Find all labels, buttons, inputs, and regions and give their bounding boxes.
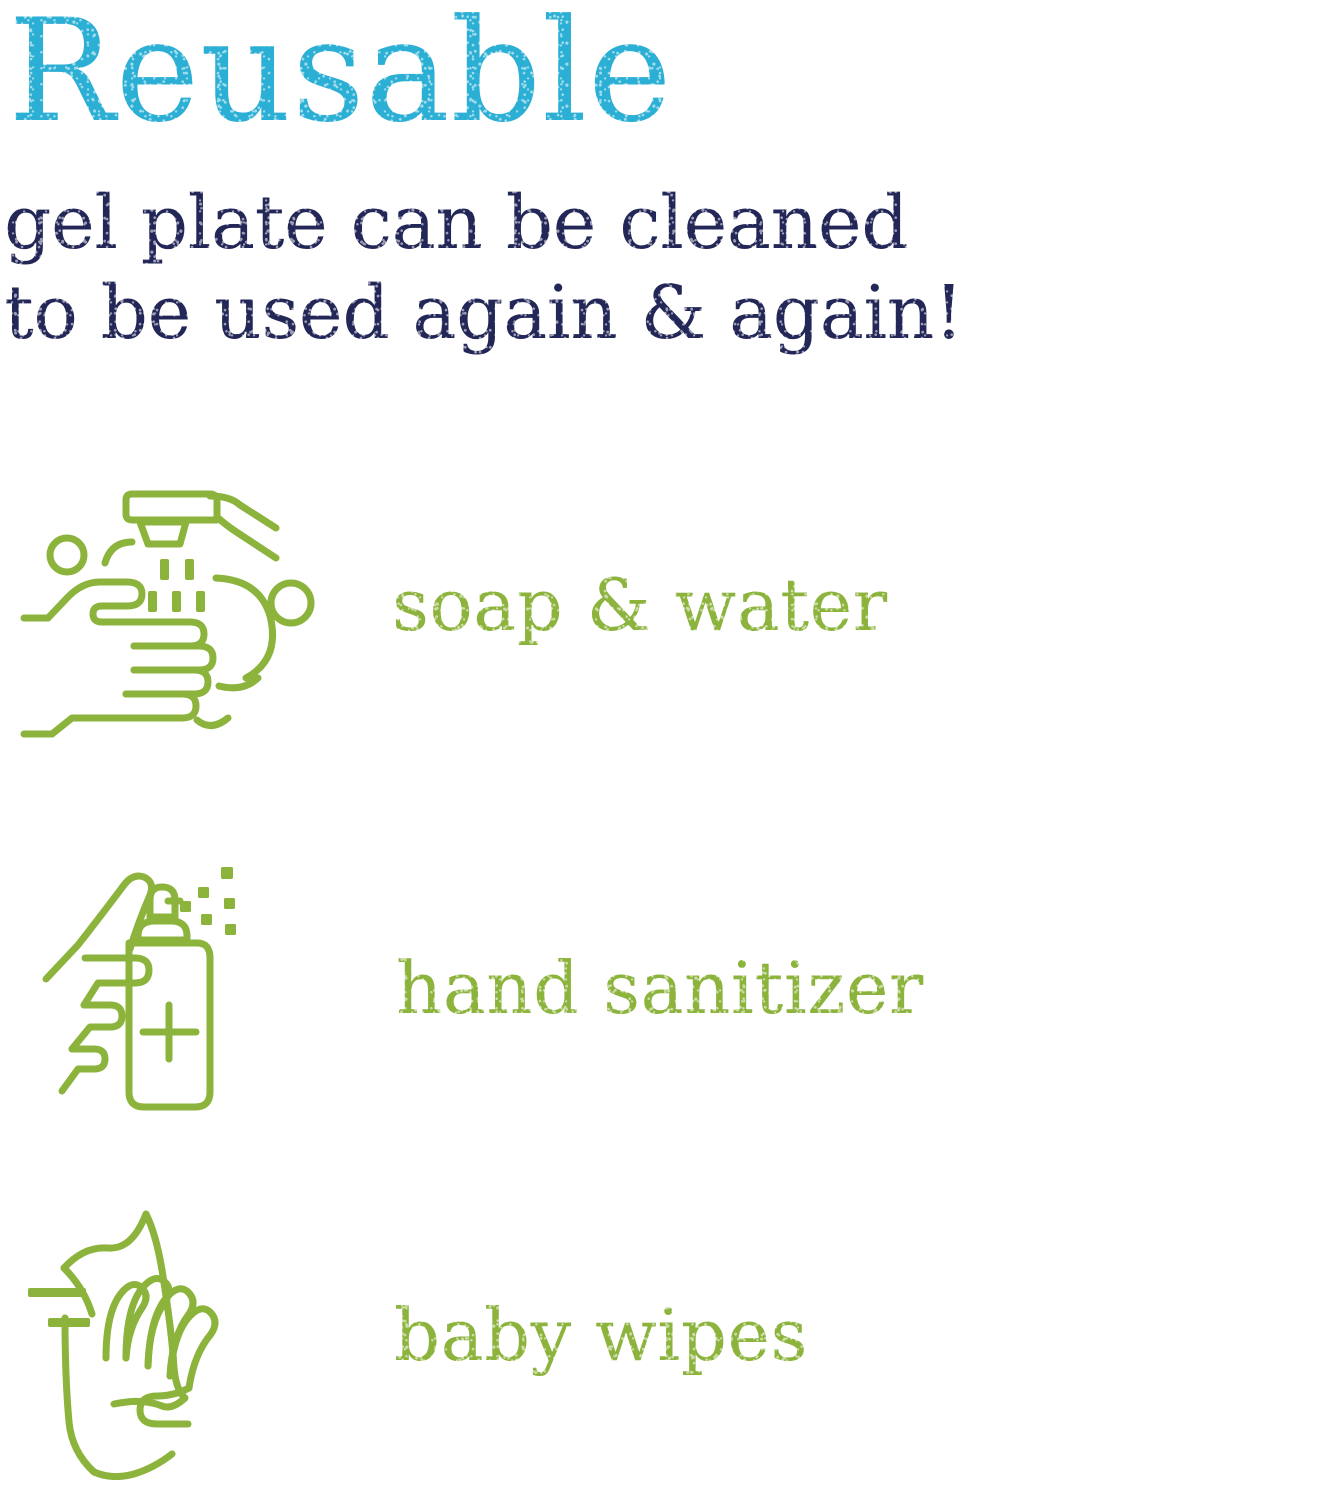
list-item-label-hand-sanitizer: hand sanitizer [396,946,924,1030]
hand-sanitizer-spray-bottle-icon [38,855,298,1121]
hand-wiping-cloth-icon [22,1190,322,1480]
list-item-baby-wipes: baby wipes [0,1185,1200,1485]
list-item-label-soap-and-water: soap & water [392,563,888,647]
list-item-label-baby-wipes: baby wipes [394,1293,808,1377]
list-item-hand-sanitizer: hand sanitizer [0,845,1200,1130]
hand-sanitizer-text: hand sanitizer [396,946,924,1030]
soap-dispenser-washing-hands-icon [14,470,326,740]
cleaning-methods-list: soap & water [0,0,1335,1488]
soap-and-water-text: soap & water [392,563,888,647]
list-item-soap-and-water: soap & water [0,455,1200,755]
baby-wipes-text: baby wipes [394,1293,808,1377]
